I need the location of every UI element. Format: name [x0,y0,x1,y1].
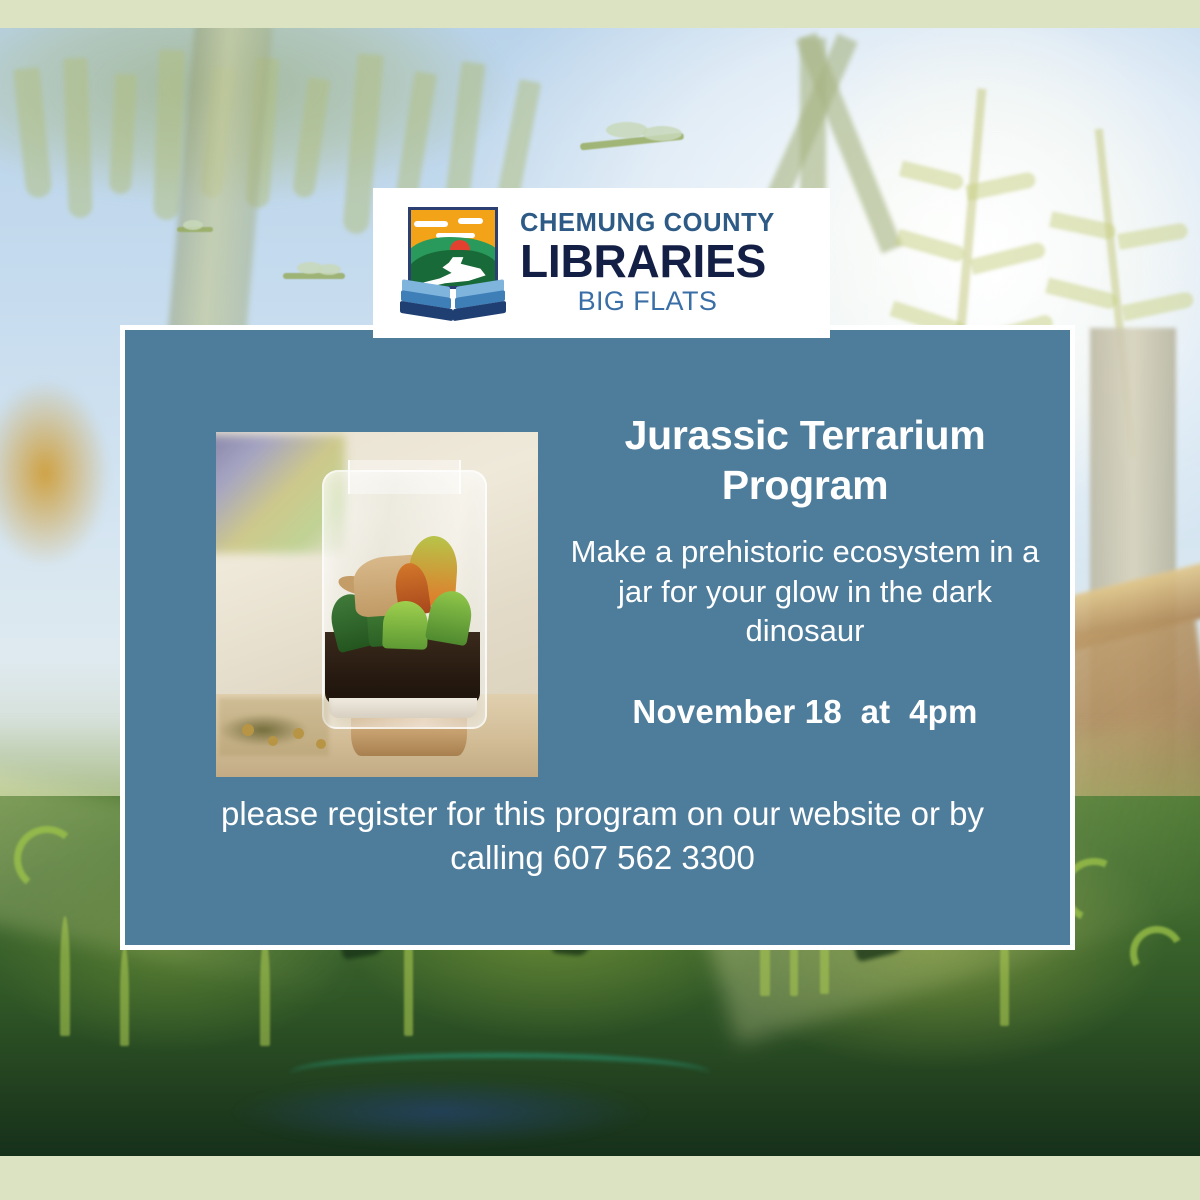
logo-cloud [458,218,483,224]
dragonfly-icon [283,260,349,286]
library-logo-mark-icon [400,205,506,321]
dragonfly-wing [606,122,648,138]
grass-blade [60,916,70,1036]
library-logo-text: CHEMUNG COUNTY LIBRARIES BIG FLATS [520,211,775,315]
water-pool-rim [290,1053,710,1094]
event-title: Jurassic Terrarium Program [565,410,1045,510]
event-description: Make a prehistoric ecosystem in a jar fo… [565,532,1045,651]
photo-jar-neck [348,460,461,495]
registration-instructions: please register for this program on our … [185,792,1020,879]
logo-cloud [414,221,448,228]
event-datetime: November 18 at 4pm [565,693,1045,731]
dragonfly-wing [642,126,682,141]
grass-blade [120,946,129,1046]
logo-line-libraries: LIBRARIES [520,238,775,284]
logo-open-book-icon [400,281,506,321]
dragonfly-icon [175,220,215,236]
dragonfly-wing [183,220,203,230]
photo-dried-bud [242,724,254,736]
event-text-column: Jurassic Terrarium Program Make a prehis… [565,410,1045,731]
orange-foliage-left [0,358,120,588]
dragonfly-icon [580,120,690,154]
logo-line-big-flats: BIG FLATS [520,288,775,315]
library-logo-card: CHEMUNG COUNTY LIBRARIES BIG FLATS [373,188,830,338]
logo-line-chemung-county: CHEMUNG COUNTY [520,211,775,237]
photo-dried-bud [268,736,278,746]
grass-blade [260,936,270,1046]
photo-pebble-layer [329,698,477,719]
logo-landscape-scene [408,207,498,289]
terrarium-photo [216,432,538,777]
fern-fiddlehead [11,823,83,895]
dragonfly-wing [317,264,341,275]
poster-root: CHEMUNG COUNTY LIBRARIES BIG FLATS [0,0,1200,1200]
fern-fiddlehead [1124,920,1190,986]
event-info-panel: Jurassic Terrarium Program Make a prehis… [120,325,1075,950]
photo-dried-flowers [219,698,328,757]
